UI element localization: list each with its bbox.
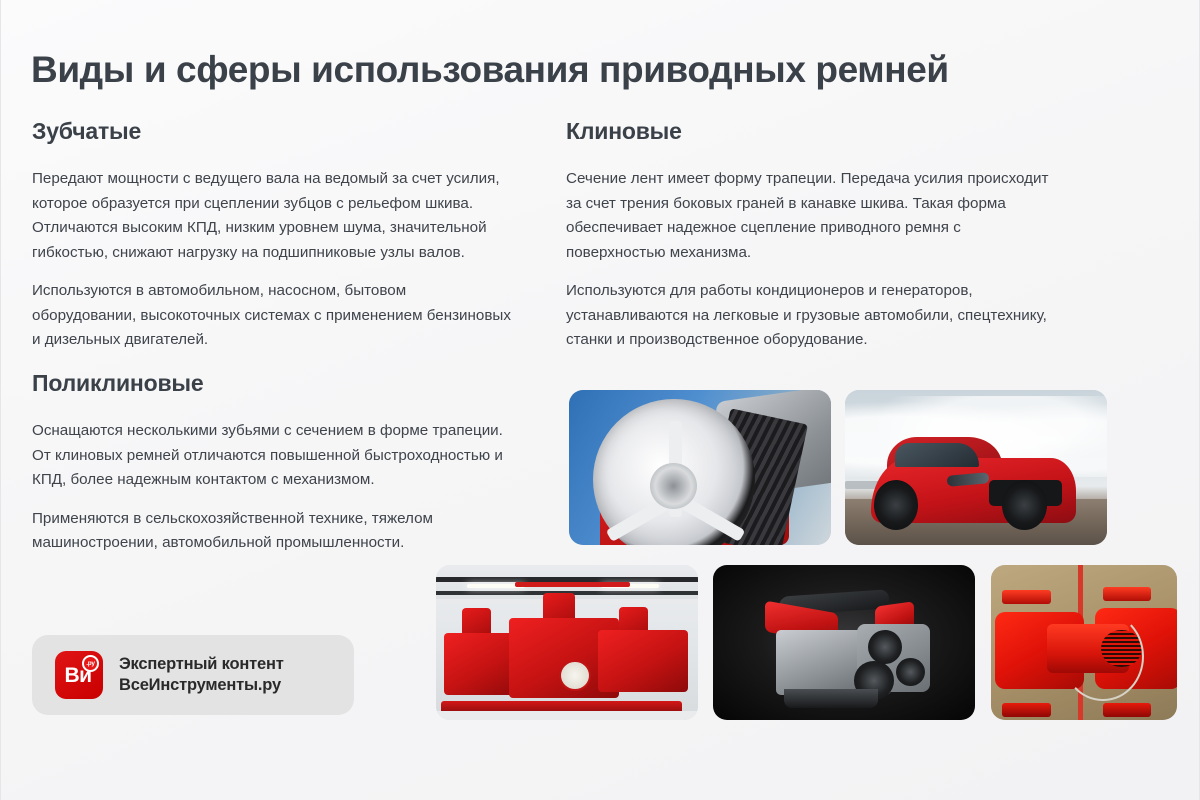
photo-red-industrial-pumps <box>991 565 1177 720</box>
brand-logo-icon: Ви .ру <box>55 651 103 699</box>
page-title: Виды и сферы использования приводных рем… <box>31 48 1141 92</box>
photo-red-sports-car <box>845 390 1107 545</box>
brand-badge-text: Экспертный контент ВсеИнструменты.ру <box>119 654 284 696</box>
paragraph: Используются в автомобильном, насосном, … <box>32 279 512 353</box>
infographic-page: Виды и сферы использования приводных рем… <box>0 0 1200 800</box>
brand-badge-line2: ВсеИнструменты.ру <box>119 675 284 696</box>
paragraph: Применяются в сельскохозяйственной техни… <box>32 507 522 556</box>
section-body-zubchatye: Передают мощности с ведущего вала на вед… <box>32 167 512 353</box>
section-body-poliklinovye: Оснащаются несколькими зубьями с сечение… <box>32 419 522 556</box>
paragraph: Передают мощности с ведущего вала на вед… <box>32 167 512 265</box>
section-body-klinovye: Сечение лент имеет форму трапеции. Перед… <box>566 167 1056 353</box>
section-poliklinovye: Поликлиновые Оснащаются несколькими зубь… <box>32 370 522 556</box>
brand-badge: Ви .ру Экспертный контент ВсеИнструменты… <box>32 635 354 715</box>
brand-logo-tld-badge: .ру <box>82 655 99 672</box>
photo-toothed-belt-pulley <box>569 390 831 545</box>
section-heading-klinovye: Клиновые <box>566 118 1056 145</box>
section-heading-poliklinovye: Поликлиновые <box>32 370 522 397</box>
paragraph: Оснащаются несколькими зубьями с сечение… <box>32 419 522 493</box>
section-zubchatye: Зубчатые Передают мощности с ведущего ва… <box>32 118 512 353</box>
photo-fire-pump-station <box>436 565 698 720</box>
paragraph: Используются для работы кондиционеров и … <box>566 279 1056 353</box>
brand-badge-line1: Экспертный контент <box>119 654 284 675</box>
photo-v8-engine <box>713 565 975 720</box>
section-heading-zubchatye: Зубчатые <box>32 118 512 145</box>
paragraph: Сечение лент имеет форму трапеции. Перед… <box>566 167 1056 265</box>
section-klinovye: Клиновые Сечение лент имеет форму трапец… <box>566 118 1056 353</box>
